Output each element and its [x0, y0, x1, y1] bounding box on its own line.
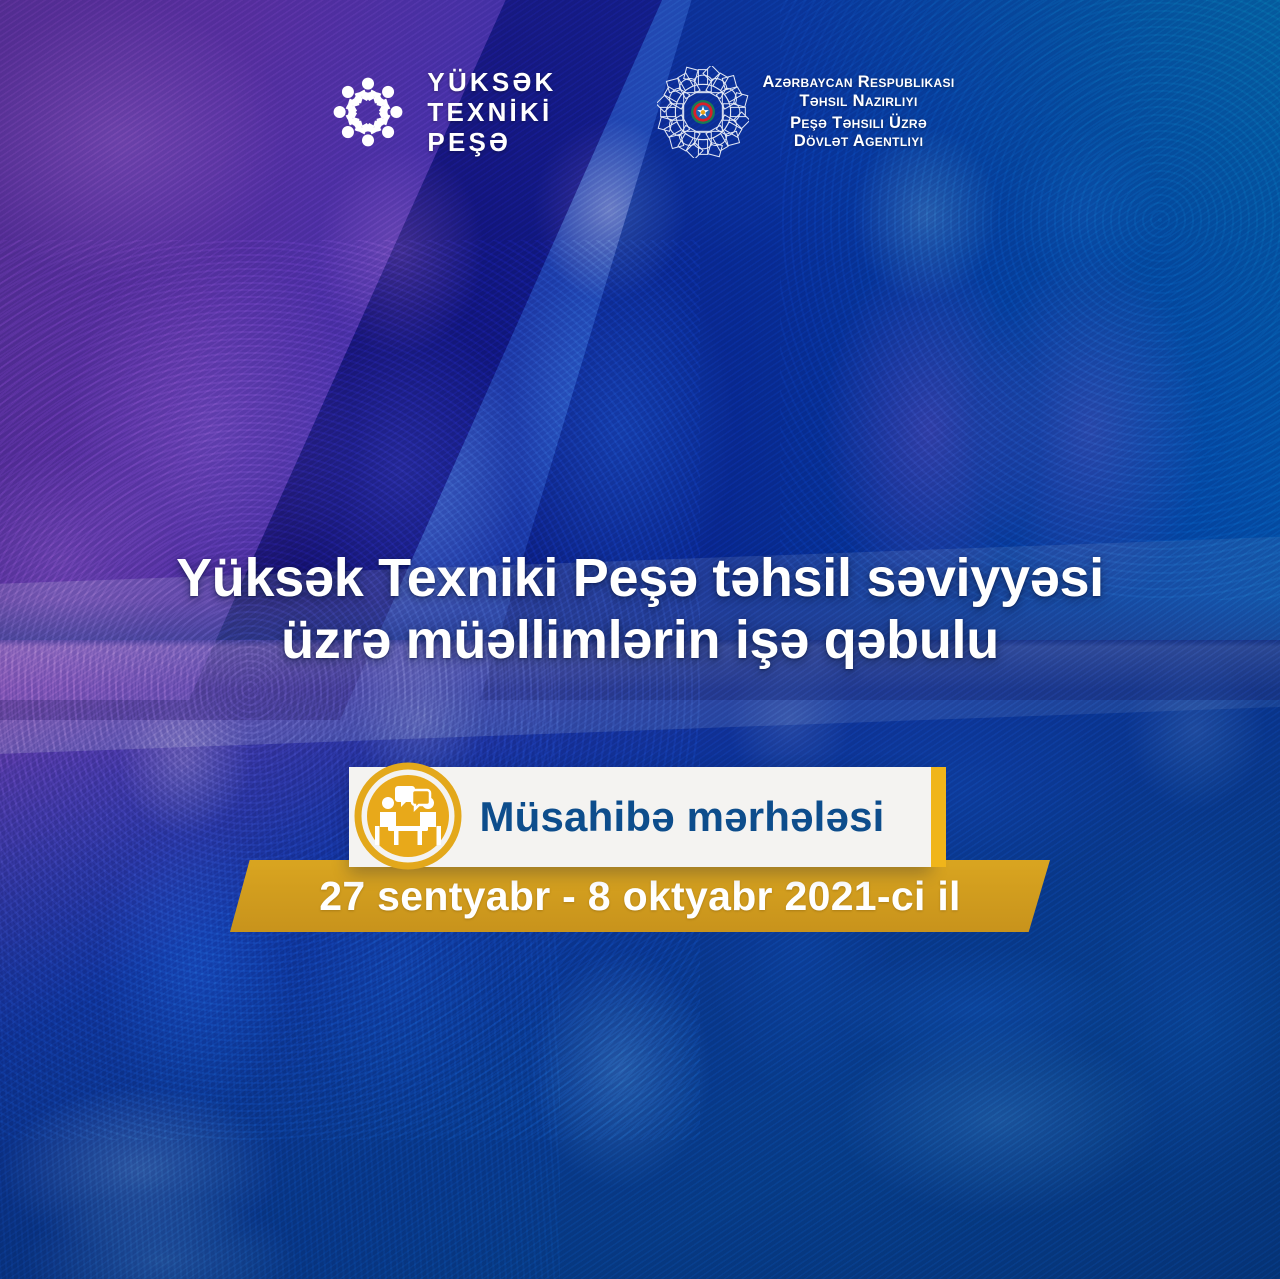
stage-badge: Müsahibə mərhələsi	[349, 765, 930, 869]
stage-badge-label: Müsahibə mərhələsi	[479, 793, 884, 841]
ministry-logo: Azərbaycan Respublikasi Təhsil Nazirliyi…	[657, 66, 955, 158]
ministry-wordmark: Azərbaycan Respublikasi Təhsil Nazirliyi…	[763, 73, 955, 151]
ytp-logo-line3: PEŞƏ	[427, 127, 556, 157]
ministry-line2: Təhsil Nazirliyi	[763, 92, 955, 111]
ytp-logo: YÜKSƏK TEXNİKİ PEŞƏ	[325, 67, 556, 157]
ministry-line4: Dövlət Agentliyi	[763, 132, 955, 151]
azerbaijan-state-emblem-icon	[657, 66, 749, 158]
date-ribbon: 27 sentyabr - 8 oktyabr 2021-ci il	[230, 860, 1050, 932]
interview-meeting-icon	[354, 762, 462, 870]
ytp-logo-line1: YÜKSƏK	[427, 67, 556, 97]
ministry-line1: Azərbaycan Respublikasi	[763, 73, 955, 92]
poster-title: Yüksək Texniki Peşə təhsil səviyyəsi üzr…	[0, 548, 1280, 671]
ytp-logo-line2: TEXNİKİ	[427, 97, 556, 127]
stage-badge-wrapper: Müsahibə mərhələsi	[0, 765, 1280, 869]
title-line-2: üzrə müəllimlərin işə qəbulu	[60, 610, 1220, 672]
poster-canvas: YÜKSƏK TEXNİKİ PEŞƏ	[0, 0, 1280, 1279]
date-ribbon-wrapper: 27 sentyabr - 8 oktyabr 2021-ci il	[0, 860, 1280, 932]
header-logos: YÜKSƏK TEXNİKİ PEŞƏ	[0, 66, 1280, 158]
ministry-line3: Peşə Təhsili Üzrə	[763, 114, 955, 133]
title-line-1: Yüksək Texniki Peşə təhsil səviyyəsi	[176, 548, 1104, 608]
star-people-logo-icon	[325, 69, 411, 155]
ytp-logo-wordmark: YÜKSƏK TEXNİKİ PEŞƏ	[427, 67, 556, 157]
date-range-label: 27 sentyabr - 8 oktyabr 2021-ci il	[319, 873, 960, 920]
